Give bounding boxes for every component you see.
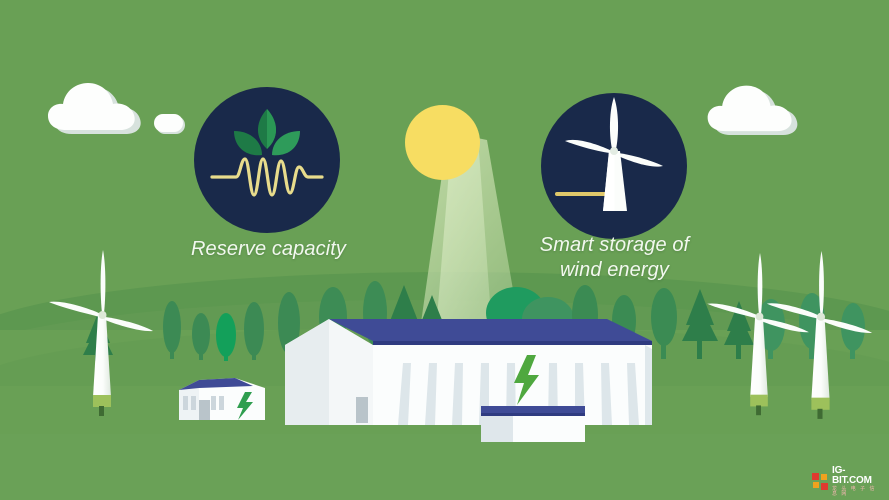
- illustration-canvas: Reserve capacity Smart storage of wind e…: [0, 0, 889, 500]
- wind-turbine-left: [48, 249, 158, 425]
- badge-label-reserve-capacity: Reserve capacity: [166, 237, 371, 262]
- cloud-left-large-icon: [44, 72, 154, 134]
- sun-icon: [405, 105, 480, 180]
- watermark-subtitle: 龙 头 电 子 信 息 网: [832, 487, 884, 497]
- wind-turbine-right-front: [764, 250, 879, 428]
- battery-storage-building: [277, 305, 677, 445]
- small-house: [173, 376, 268, 426]
- cloud-left-small-icon: [152, 111, 188, 137]
- ig-bit-logo-icon: [812, 473, 829, 490]
- wind-turbine-icon: [541, 93, 687, 239]
- badge-reserve-capacity[interactable]: [194, 87, 340, 233]
- watermark: IG-BIT.COM 龙 头 电 子 信 息 网: [812, 470, 884, 492]
- watermark-domain: IG-BIT.COM: [832, 466, 884, 486]
- badge-smart-storage-wind[interactable]: [541, 93, 687, 239]
- cloud-right-icon: [703, 75, 811, 135]
- building-annex: [481, 406, 585, 442]
- badge-label-smart-storage-wind: Smart storage of wind energy: [507, 233, 722, 283]
- leaf-waveform-icon: [194, 87, 340, 233]
